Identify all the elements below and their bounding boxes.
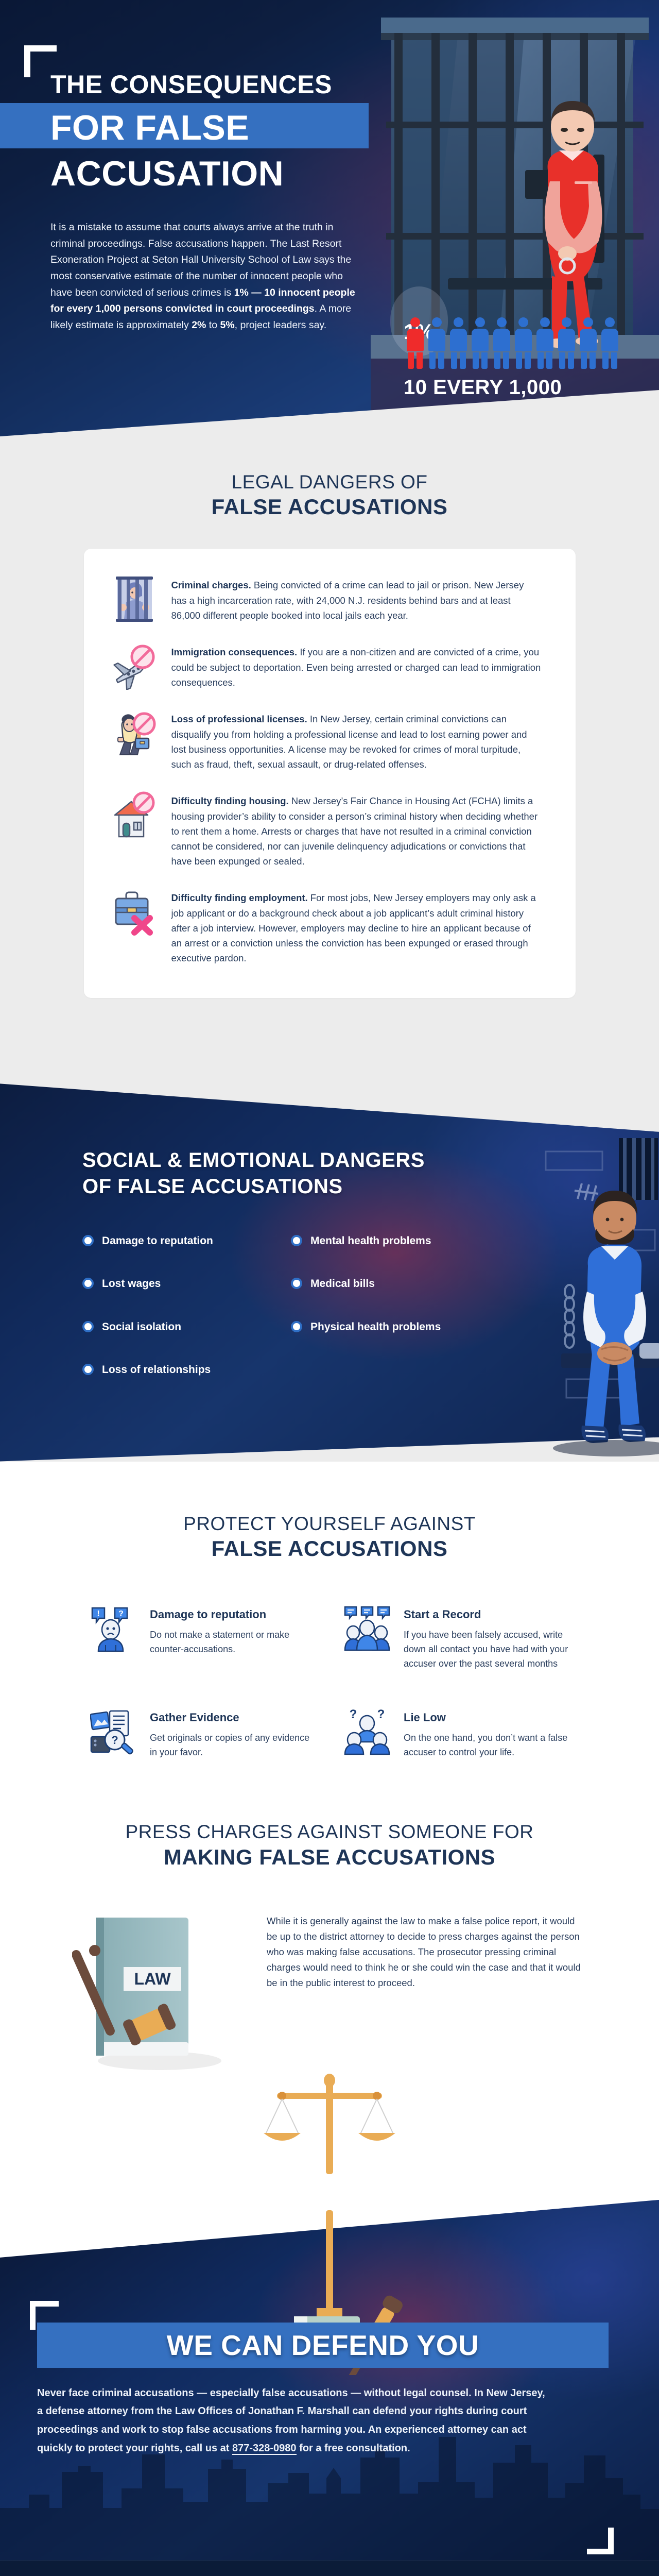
danger-text: Loss of professional licenses. In New Je…: [171, 709, 542, 772]
tip-desc: On the one hand, you don’t want a false …: [404, 1731, 569, 1759]
jail-bars-icon: [111, 575, 158, 623]
list-item: Loss of professional licenses. In New Je…: [111, 709, 542, 772]
person-icon-blue: [580, 317, 597, 369]
people-pictogram: [396, 308, 638, 369]
svg-text:?: ?: [118, 1609, 124, 1618]
danger-text: Criminal charges. Being convicted of a c…: [171, 575, 542, 623]
cta-corner-bracket-bottom-right: [587, 2528, 614, 2554]
hero-slant-divider: [0, 390, 659, 466]
bullet-label: Mental health problems: [310, 1234, 431, 1248]
bullet-dot-icon: [82, 1321, 94, 1332]
person-icon-blue: [601, 317, 618, 369]
hero-para-bold3: 5%: [220, 319, 234, 331]
social-column-left: Damage to reputation Lost wages Social i…: [82, 1234, 265, 1405]
stat-caption: 10 EVERY 1,000: [396, 376, 638, 399]
list-item: Difficulty finding employment. For most …: [111, 888, 542, 965]
cta-paragraph: Never face criminal accusations — especi…: [37, 2384, 552, 2458]
legal-heading-line1: LEGAL DANGERS OF: [0, 471, 659, 493]
social-emotional-section: SOCIAL & EMOTIONAL DANGERS OF FALSE ACCU…: [0, 1060, 659, 1462]
bullet-dot-icon: [82, 1364, 94, 1375]
protect-tips-grid: ! ? Damage to reputation Do not make a s…: [90, 1605, 569, 1759]
hero-section: THE CONSEQUENCES FOR FALSE ACCUSATION It…: [0, 0, 659, 466]
tip-title: Gather Evidence: [150, 1711, 315, 1724]
list-item: Difficulty finding housing. New Jersey’s…: [111, 791, 542, 869]
law-book-and-gavel-illustration: LAW: [72, 1906, 242, 2076]
briefcase-rejected-icon: [111, 888, 158, 936]
list-item: Damage to reputation: [82, 1234, 265, 1248]
evidence-magnifier-icon: ?: [90, 1708, 137, 1755]
hero-title-line2: FOR FALSE: [50, 111, 371, 145]
danger-text: Difficulty finding employment. For most …: [171, 888, 542, 965]
person-icon-red: [407, 317, 424, 369]
tip-title: Start a Record: [404, 1608, 569, 1621]
press-body: While it is generally against the law to…: [267, 1906, 587, 1991]
page-title: THE CONSEQUENCES FOR FALSE ACCUSATION: [50, 72, 371, 191]
press-heading-line2: MAKING FALSE ACCUSATIONS: [0, 1845, 659, 1869]
bullet-dot-icon: [82, 1235, 94, 1246]
scales-of-justice-top: [0, 2071, 659, 2169]
legal-dangers-heading: LEGAL DANGERS OF FALSE ACCUSATIONS: [0, 471, 659, 519]
cta-banner: WE CAN DEFEND YOU: [37, 2323, 609, 2368]
bullet-label: Social isolation: [102, 1320, 181, 1334]
svg-text:!: !: [97, 1609, 99, 1618]
bullet-dot-icon: [82, 1278, 94, 1289]
law-book-label: LAW: [134, 1970, 171, 1988]
cta-banner-text: WE CAN DEFEND YOU: [37, 2323, 609, 2368]
danger-title: Difficulty finding employment.: [171, 892, 308, 903]
protect-yourself-section: PROTECT YOURSELF AGAINST FALSE ACCUSATIO…: [0, 1462, 659, 1806]
cta-body-post: for a free consultation.: [297, 2443, 410, 2454]
list-item: Loss of relationships: [82, 1363, 265, 1377]
list-item: Social isolation: [82, 1320, 265, 1334]
list-item: Physical health problems: [291, 1320, 474, 1334]
list-item: ? ? Lie Low On the o: [344, 1708, 569, 1759]
person-icon-blue: [450, 317, 467, 369]
worker-prohibited-icon: [111, 709, 158, 757]
list-item: Medical bills: [291, 1277, 474, 1291]
person-icon-blue: [472, 317, 489, 369]
list-item: ! ? Damage to reputation Do not make a s…: [90, 1605, 315, 1671]
hero-paragraph: It is a mistake to assume that courts al…: [50, 219, 359, 333]
legal-dangers-card: Criminal charges. Being convicted of a c…: [84, 549, 576, 997]
tip-title: Damage to reputation: [150, 1608, 315, 1621]
hero-title-line3: ACCUSATION: [50, 157, 371, 191]
social-bullet-columns: Damage to reputation Lost wages Social i…: [82, 1234, 474, 1405]
danger-title: Immigration consequences.: [171, 647, 298, 657]
tip-title: Lie Low: [404, 1711, 569, 1724]
hero-para-end: , project leaders say.: [235, 319, 326, 331]
legal-heading-line2: FALSE ACCUSATIONS: [0, 495, 659, 519]
press-heading-line1: PRESS CHARGES AGAINST SOMEONE FOR: [0, 1821, 659, 1842]
group-record-icon: [344, 1605, 391, 1652]
svg-text:?: ?: [377, 1708, 385, 1721]
hero-para-bold2: 2%: [192, 319, 206, 331]
footer: THE LAW OFFICES OF JONATHAN F. MARSHALL …: [0, 2561, 659, 2576]
hero-para-mid2: to: [206, 319, 220, 331]
danger-title: Difficulty finding housing.: [171, 795, 289, 806]
airplane-prohibited-icon: [111, 642, 158, 690]
protect-heading: PROTECT YOURSELF AGAINST FALSE ACCUSATIO…: [0, 1513, 659, 1561]
person-icon-blue: [493, 317, 510, 369]
list-item: ? Gather Evidence Get originals or copie…: [90, 1708, 315, 1759]
infographic-page: THE CONSEQUENCES FOR FALSE ACCUSATION It…: [0, 0, 659, 2576]
house-prohibited-icon: [111, 791, 158, 839]
danger-title: Loss of professional licenses.: [171, 714, 307, 724]
list-item: Immigration consequences. If you are a n…: [111, 642, 542, 690]
bullet-dot-icon: [291, 1278, 302, 1289]
cta-phone-link[interactable]: 877-328-0980: [232, 2443, 297, 2455]
group-question-icon: ? ?: [344, 1708, 391, 1755]
bullet-label: Loss of relationships: [102, 1363, 211, 1377]
bullet-dot-icon: [291, 1321, 302, 1332]
person-icon-blue: [558, 317, 575, 369]
press-charges-section: PRESS CHARGES AGAINST SOMEONE FOR MAKING…: [0, 1806, 659, 2199]
list-item: Mental health problems: [291, 1234, 474, 1248]
bullet-label: Lost wages: [102, 1277, 161, 1291]
cta-corner-bracket-top-left: [30, 2301, 59, 2330]
danger-text: Immigration consequences. If you are a n…: [171, 642, 542, 690]
person-icon-blue: [515, 317, 532, 369]
stat-cluster: 1% 10 EVERY 1,000: [396, 308, 638, 399]
bullet-label: Physical health problems: [310, 1320, 441, 1334]
bullet-label: Damage to reputation: [102, 1234, 213, 1248]
svg-text:?: ?: [111, 1734, 118, 1747]
tip-desc: Do not make a statement or make counter-…: [150, 1628, 315, 1656]
list-item: Lost wages: [82, 1277, 265, 1291]
danger-title: Criminal charges.: [171, 580, 251, 590]
legal-dangers-section: LEGAL DANGERS OF FALSE ACCUSATIONS: [0, 466, 659, 1060]
press-heading: PRESS CHARGES AGAINST SOMEONE FOR MAKING…: [0, 1821, 659, 1869]
tip-desc: If you have been falsely accused, write …: [404, 1628, 569, 1671]
list-item: Start a Record If you have been falsely …: [344, 1605, 569, 1671]
tip-desc: Get originals or copies of any evidence …: [150, 1731, 315, 1759]
protect-heading-line1: PROTECT YOURSELF AGAINST: [0, 1513, 659, 1534]
person-speech-bubbles-icon: ! ?: [90, 1605, 137, 1652]
protect-heading-line2: FALSE ACCUSATIONS: [0, 1536, 659, 1561]
danger-text: Difficulty finding housing. New Jersey’s…: [171, 791, 542, 869]
bullet-label: Medical bills: [310, 1277, 375, 1291]
cta-section: WE CAN DEFEND YOU Never face criminal ac…: [0, 2200, 659, 2561]
person-icon-blue: [536, 317, 553, 369]
social-heading: SOCIAL & EMOTIONAL DANGERS OF FALSE ACCU…: [82, 1147, 659, 1200]
social-heading-line2: OF FALSE ACCUSATIONS: [82, 1175, 343, 1198]
person-icon-blue: [428, 317, 445, 369]
svg-text:?: ?: [350, 1708, 357, 1721]
social-column-right: Mental health problems Medical bills Phy…: [291, 1234, 474, 1405]
list-item: Criminal charges. Being convicted of a c…: [111, 575, 542, 623]
hero-title-line1: THE CONSEQUENCES: [50, 72, 371, 97]
social-heading-line1: SOCIAL & EMOTIONAL DANGERS: [82, 1149, 425, 1172]
bullet-dot-icon: [291, 1235, 302, 1246]
